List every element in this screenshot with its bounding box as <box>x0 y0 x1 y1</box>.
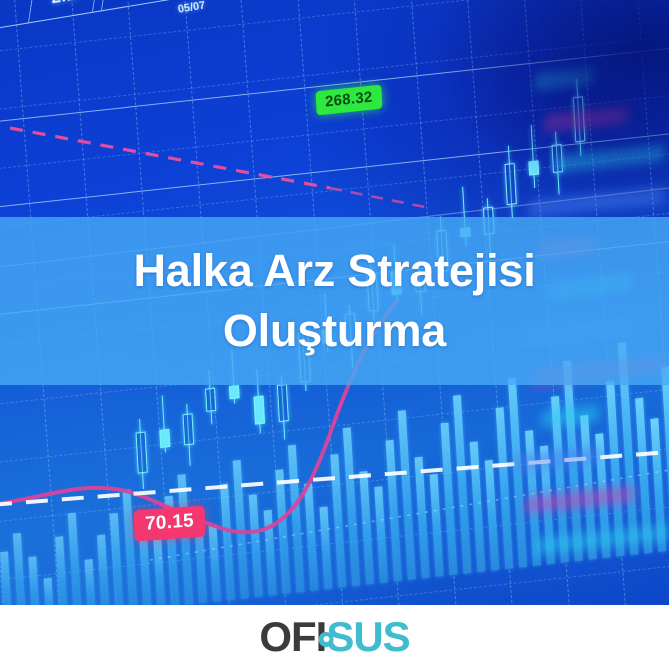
price-tag-high: 268.32 <box>316 85 383 116</box>
grid-line-horizontal <box>0 435 669 528</box>
grid-line-horizontal <box>0 84 669 177</box>
side-panel-row <box>541 404 600 427</box>
grid-line-horizontal <box>0 26 669 119</box>
volume-bar <box>661 366 669 550</box>
volume-bar <box>233 460 249 599</box>
tab-3m[interactable]: 3m <box>101 0 173 10</box>
volume-bar <box>288 445 305 593</box>
candlestick-body <box>528 161 539 176</box>
side-panel-row <box>525 485 635 514</box>
volume-bar <box>249 495 263 597</box>
candlestick-body <box>254 396 266 424</box>
grid-line-horizontal <box>0 376 669 469</box>
ofisus-logo[interactable]: OFI SUS <box>259 616 409 658</box>
candlestick-wick <box>576 79 582 156</box>
volume-bar <box>319 507 332 590</box>
volume-bar <box>194 509 208 603</box>
price-tag-low: 70.15 <box>134 506 206 542</box>
volume-bar <box>508 378 527 568</box>
volume-bar <box>153 539 165 605</box>
candlestick-wick <box>186 404 191 465</box>
grid-line-horizontal <box>0 0 669 61</box>
grid-line-major <box>0 37 669 130</box>
side-panel-row <box>545 106 629 132</box>
volume-bar <box>441 422 458 575</box>
volume-bar <box>220 484 235 601</box>
volume-bar <box>606 381 624 557</box>
volume-bar <box>595 433 610 558</box>
volume-bar <box>0 551 12 605</box>
side-panel-row <box>535 67 594 90</box>
promo-graphic: 2m 3m 6m 1y 2y 05/07 25/09 268.32 70.15 … <box>0 0 669 669</box>
side-panel-row <box>554 144 664 173</box>
candlestick-body <box>205 388 216 412</box>
volume-bar <box>386 440 402 582</box>
side-panel-row <box>534 524 669 555</box>
volume-bar <box>415 456 430 578</box>
volume-bar <box>55 536 68 605</box>
volume-bar <box>343 427 360 586</box>
candlestick-body <box>182 413 194 446</box>
candlestick-body <box>573 96 586 143</box>
volume-bar <box>374 486 388 583</box>
volume-bar <box>525 430 541 566</box>
candlestick-wick <box>281 376 286 440</box>
volume-bar <box>430 474 444 576</box>
volume-bar <box>122 489 137 605</box>
logo-text-sus: SUS <box>326 616 409 658</box>
volume-bar <box>496 407 514 569</box>
candlestick-body <box>135 432 147 474</box>
volume-bar <box>84 559 95 605</box>
tab-2m[interactable]: 2m <box>28 0 100 22</box>
volume-bar <box>650 418 666 551</box>
volume-bar <box>13 533 26 605</box>
volume-bar <box>540 445 555 564</box>
volume-bar <box>453 395 472 574</box>
volume-bar <box>470 442 486 573</box>
candlestick-wick <box>139 419 144 490</box>
candlestick-body <box>505 163 517 205</box>
volume-bar <box>359 471 374 585</box>
volume-bar <box>275 469 290 594</box>
pin-hole <box>323 636 329 642</box>
volume-bar <box>485 460 500 571</box>
volume-bar <box>44 577 55 605</box>
timeframe-tab-bar[interactable]: 2m 3m 6m 1y 2y 05/07 25/09 <box>0 0 669 108</box>
volume-bar <box>28 556 40 605</box>
volume-bar <box>178 474 194 605</box>
location-pin-icon <box>319 632 334 647</box>
volume-bar <box>304 483 318 591</box>
grid-line-horizontal <box>0 493 669 586</box>
title-banner: Halka Arz Stratejisi Oluşturma <box>0 217 669 385</box>
side-panel-row <box>528 186 664 217</box>
volume-bar <box>138 521 151 605</box>
side-panel-row <box>515 447 599 473</box>
grid-line-horizontal <box>0 0 669 2</box>
volume-bar <box>398 410 416 580</box>
volume-bar <box>209 525 222 602</box>
page-title-line-2: Oluşturma <box>223 303 446 359</box>
volume-bar <box>97 534 110 605</box>
tab-2m-label: 2m <box>49 0 78 8</box>
volume-bar <box>635 397 652 553</box>
candlestick-wick <box>162 396 167 453</box>
candlestick-wick <box>531 125 536 189</box>
grid-line-major <box>0 123 669 216</box>
footer-bar: OFI SUS <box>0 605 669 669</box>
date-label-0507: 05/07 <box>177 0 206 16</box>
candlestick-body <box>229 385 240 400</box>
volume-bar <box>580 415 597 560</box>
volume-bar <box>110 513 124 605</box>
volume-bar <box>330 454 346 587</box>
candlestick-wick <box>508 145 513 218</box>
candlestick-body <box>277 384 289 421</box>
page-title-line-1: Halka Arz Stratejisi <box>133 243 535 299</box>
volume-bar <box>165 496 180 605</box>
candlestick-wick <box>555 131 560 195</box>
volume-bar <box>551 396 569 563</box>
candlestick-body <box>159 429 170 448</box>
grid-line-horizontal <box>0 551 669 605</box>
volume-bar <box>264 510 277 595</box>
volume-bar <box>68 512 82 605</box>
logo-text-of: OFI <box>259 616 326 658</box>
volume-bar <box>563 360 583 561</box>
candlestick-body <box>551 144 563 172</box>
tab-rail-bottom <box>0 0 669 36</box>
